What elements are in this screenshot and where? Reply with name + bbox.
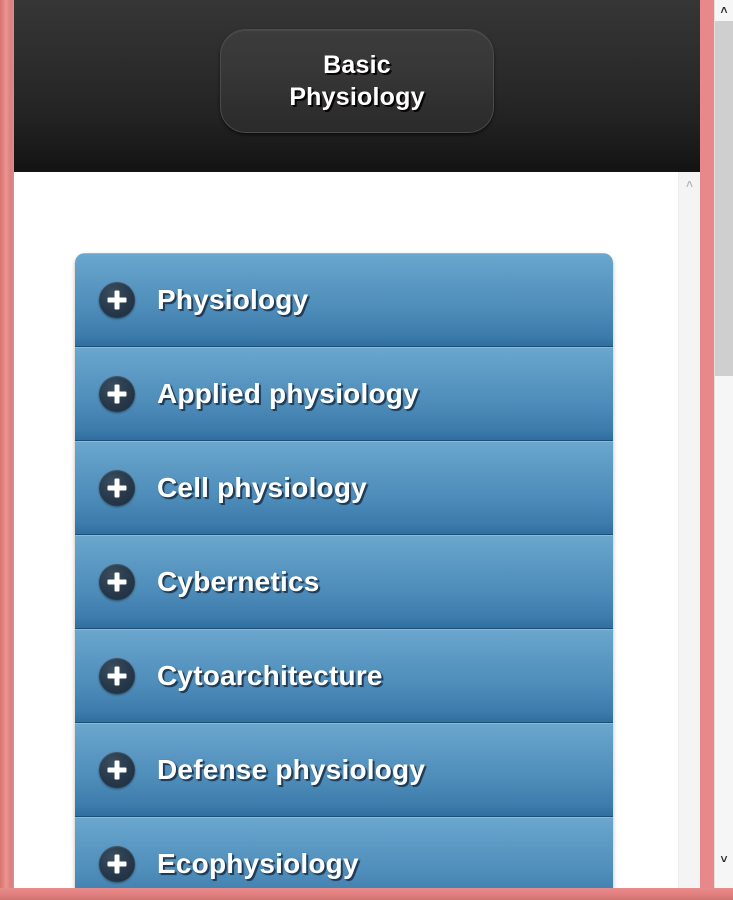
plus-icon[interactable]: [99, 564, 135, 600]
site-title-label: Basic Physiology: [289, 49, 424, 113]
accordion-item-applied-physiology[interactable]: Applied physiology: [75, 347, 613, 441]
window-frame-left: [0, 0, 14, 900]
accordion-item-cytoarchitecture[interactable]: Cytoarchitecture: [75, 629, 613, 723]
browser-window: Basic Physiology Physiology Applied phys…: [0, 0, 733, 900]
accordion-item-cybernetics[interactable]: Cybernetics: [75, 535, 613, 629]
page-body: Basic Physiology Physiology Applied phys…: [14, 0, 700, 890]
accordion-item-physiology[interactable]: Physiology: [75, 253, 613, 347]
plus-icon[interactable]: [99, 376, 135, 412]
scroll-up-arrow-icon[interactable]: ˄: [715, 0, 733, 19]
plus-icon[interactable]: [99, 846, 135, 882]
plus-icon[interactable]: [99, 282, 135, 318]
scroll-up-arrow-icon[interactable]: ˄: [679, 172, 700, 196]
accordion-item-label: Defense physiology: [157, 754, 425, 786]
accordion-item-ecophysiology[interactable]: Ecophysiology: [75, 817, 613, 890]
accordion-item-label: Physiology: [157, 284, 308, 316]
accordion-item-label: Applied physiology: [157, 378, 419, 410]
accordion-item-label: Cybernetics: [157, 566, 320, 598]
content-area: Physiology Applied physiology Cell physi…: [14, 172, 700, 890]
scroll-down-arrow-icon[interactable]: ˅: [715, 849, 733, 868]
site-title-button[interactable]: Basic Physiology: [220, 29, 494, 133]
accordion-item-defense-physiology[interactable]: Defense physiology: [75, 723, 613, 817]
accordion-item-cell-physiology[interactable]: Cell physiology: [75, 441, 613, 535]
plus-icon[interactable]: [99, 470, 135, 506]
accordion-item-label: Cytoarchitecture: [157, 660, 383, 692]
inner-scrollbar[interactable]: ˄: [678, 172, 700, 890]
scrollbar-thumb[interactable]: [715, 21, 733, 376]
plus-icon[interactable]: [99, 658, 135, 694]
accordion-list: Physiology Applied physiology Cell physi…: [75, 253, 613, 890]
site-header: Basic Physiology: [14, 0, 700, 172]
outer-scrollbar[interactable]: ˄ ˅: [714, 0, 733, 890]
accordion-item-label: Cell physiology: [157, 472, 367, 504]
accordion-item-label: Ecophysiology: [157, 848, 359, 880]
window-frame-bottom: [0, 888, 733, 900]
plus-icon[interactable]: [99, 752, 135, 788]
